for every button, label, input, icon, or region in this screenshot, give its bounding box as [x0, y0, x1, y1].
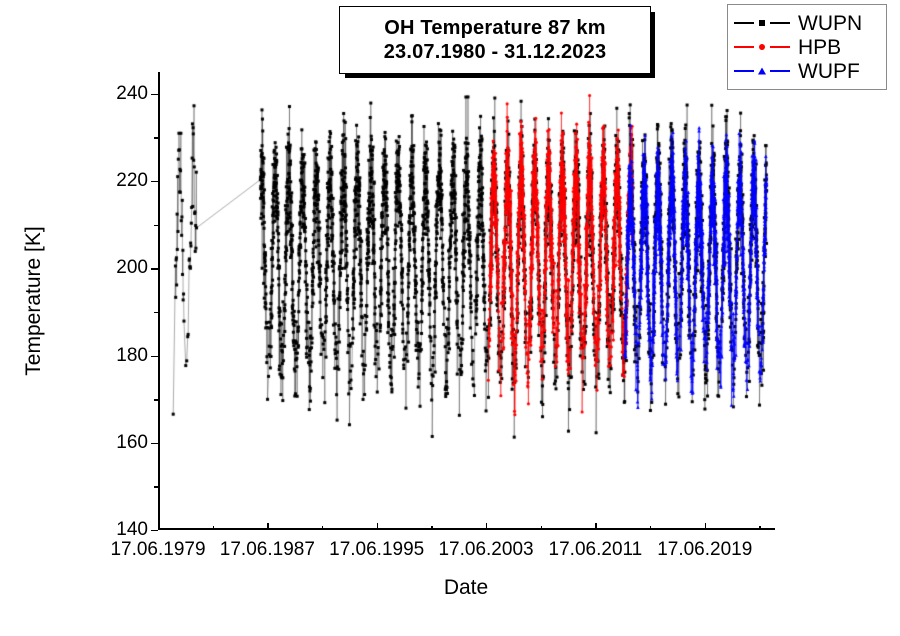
y-tick-minor [154, 137, 158, 138]
x-tick [595, 523, 596, 530]
x-axis-title: Date [444, 576, 488, 600]
y-tick-minor [154, 225, 158, 226]
x-tick-minor [541, 526, 542, 530]
y-tick [151, 356, 158, 357]
x-tick-label: 17.06.1987 [220, 539, 315, 561]
y-tick-label: 220 [116, 170, 148, 192]
legend-label-wupf: WUPF [798, 61, 860, 82]
chart-title-line-2: 23.07.1980 - 31.12.2023 [384, 40, 607, 64]
x-tick [267, 523, 268, 530]
x-tick-minor [322, 526, 323, 530]
y-tick-minor [154, 486, 158, 487]
x-tick-label: 17.06.2003 [438, 539, 533, 561]
legend-item-wupn[interactable]: WUPN [734, 11, 878, 35]
circle-marker-icon [759, 44, 765, 50]
y-tick-label: 200 [116, 257, 148, 279]
x-tick-label: 17.06.1979 [110, 539, 205, 561]
y-tick-label: 180 [116, 345, 148, 367]
x-tick [705, 523, 706, 530]
chart-title-box: OH Temperature 87 km 23.07.1980 - 31.12.… [339, 6, 651, 74]
x-tick-label: 17.06.2011 [549, 539, 643, 561]
y-tick [151, 181, 158, 182]
y-tick-minor [154, 399, 158, 400]
y-tick-label: 240 [116, 83, 148, 105]
x-tick-minor [650, 526, 651, 530]
plot-area: 140160180200220240 17.06.197917.06.19871… [158, 72, 775, 530]
x-tick-label: 17.06.1995 [329, 539, 424, 561]
y-tick [151, 268, 158, 269]
y-tick [151, 443, 158, 444]
x-tick [377, 523, 378, 530]
legend-key-hpb [734, 40, 790, 54]
y-tick-label: 140 [116, 519, 148, 541]
legend-item-hpb[interactable]: HPB [734, 35, 878, 59]
y-axis-line [158, 72, 160, 530]
y-tick-label: 160 [116, 432, 148, 454]
y-tick [151, 530, 158, 531]
legend-label-hpb: HPB [798, 37, 841, 58]
x-tick-minor [759, 526, 760, 530]
chart-title-line-1: OH Temperature 87 km [384, 16, 606, 40]
y-tick-minor [154, 312, 158, 313]
square-marker-icon [759, 20, 765, 26]
x-tick-minor [431, 526, 432, 530]
x-tick-label: 17.06.2019 [657, 539, 752, 561]
legend-label-wupn: WUPN [798, 13, 862, 34]
y-tick [151, 94, 158, 95]
x-tick [158, 523, 159, 530]
y-axis-title: Temperature [K] [22, 226, 46, 375]
data-plot-canvas [158, 72, 775, 530]
x-axis-line [158, 528, 775, 530]
x-tick-minor [213, 526, 214, 530]
x-tick [486, 523, 487, 530]
chart-root: OH Temperature 87 km 23.07.1980 - 31.12.… [0, 0, 900, 636]
legend-key-wupn [734, 16, 790, 30]
